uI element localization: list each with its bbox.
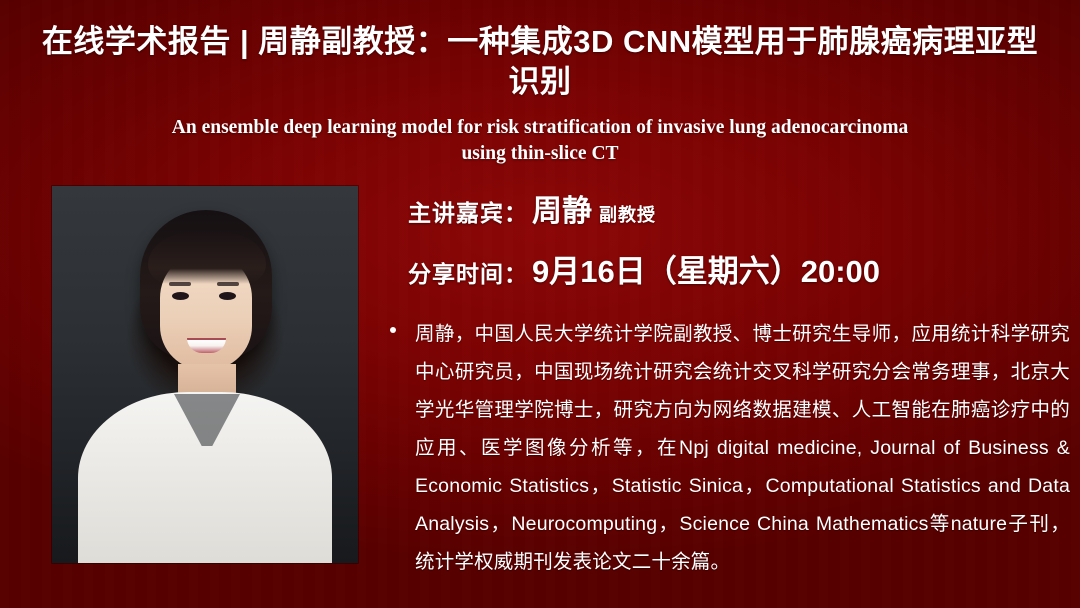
page-subtitle: An ensemble deep learning model for risk… [0, 115, 1080, 166]
bullet-icon [390, 327, 396, 333]
portrait-eye-right [219, 292, 236, 300]
speaker-bio-text: 周静，中国人民大学统计学院副教授、博士研究生导师，应用统计科学研究中心研究员，中… [415, 323, 1070, 573]
portrait-brow-left [169, 282, 191, 286]
page-title-line2: 识别 [509, 64, 572, 99]
portrait-image [52, 186, 358, 563]
schedule-label: 分享时间： [408, 261, 528, 287]
details-column: 主讲嘉宾：周静副教授 分享时间：9月16日（星期六）20:00 周静，中国人民大… [380, 186, 1070, 581]
speaker-label: 主讲嘉宾： [408, 200, 528, 226]
speaker-academic-title: 副教授 [599, 205, 656, 225]
schedule-value: 9月16日（星期六）20:00 [532, 254, 880, 289]
portrait-bangs [148, 232, 266, 284]
page-title-line1: 在线学术报告 | 周静副教授：一种集成3D CNN模型用于肺腺癌病理亚型 [42, 24, 1038, 59]
speaker-photo [52, 186, 358, 563]
poster-root: 在线学术报告 | 周静副教授：一种集成3D CNN模型用于肺腺癌病理亚型 识别 … [0, 0, 1080, 608]
speaker-row: 主讲嘉宾：周静副教授 [408, 186, 1070, 230]
speaker-name: 周静 [532, 195, 592, 228]
portrait-eye-left [172, 292, 189, 300]
schedule-row: 分享时间：9月16日（星期六）20:00 [408, 246, 1070, 291]
speaker-bio: 周静，中国人民大学统计学院副教授、博士研究生导师，应用统计科学研究中心研究员，中… [380, 315, 1070, 581]
page-subtitle-line1: An ensemble deep learning model for risk… [172, 117, 908, 138]
page-subtitle-line2: using thin-slice CT [461, 143, 618, 164]
portrait-brow-right [217, 282, 239, 286]
page-title: 在线学术报告 | 周静副教授：一种集成3D CNN模型用于肺腺癌病理亚型 识别 [0, 22, 1080, 101]
poster-header: 在线学术报告 | 周静副教授：一种集成3D CNN模型用于肺腺癌病理亚型 识别 … [0, 0, 1080, 166]
